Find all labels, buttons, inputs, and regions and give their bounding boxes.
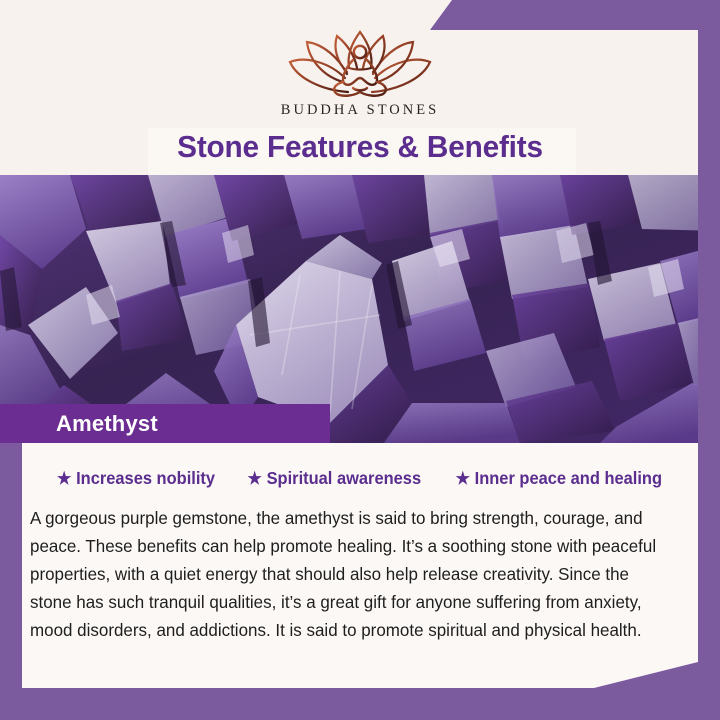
benefit-item: ★ Spiritual awareness bbox=[247, 468, 421, 489]
benefit-item: ★ Increases nobility bbox=[57, 468, 215, 489]
page-title: Stone Features & Benefits bbox=[14, 129, 705, 165]
star-icon: ★ bbox=[57, 470, 71, 487]
star-icon: ★ bbox=[247, 470, 261, 487]
brand-logo: BUDDHA STONES bbox=[0, 26, 720, 119]
star-icon: ★ bbox=[455, 470, 469, 487]
stone-name: Amethyst bbox=[56, 411, 158, 437]
benefit-label: Spiritual awareness bbox=[266, 468, 421, 489]
brand-name: BUDDHA STONES bbox=[0, 102, 720, 119]
benefit-label: Inner peace and healing bbox=[474, 468, 661, 489]
benefit-label: Increases nobility bbox=[76, 468, 215, 489]
frame-top-right-band bbox=[430, 0, 720, 30]
frame-left-band bbox=[0, 443, 22, 720]
amethyst-photo bbox=[0, 175, 720, 443]
benefit-item: ★ Inner peace and healing bbox=[455, 468, 661, 489]
stone-name-bar bbox=[0, 404, 330, 443]
poster-canvas: BUDDHA STONES Stone Features & Benefits bbox=[0, 0, 720, 720]
lotus-meditation-icon bbox=[285, 26, 435, 98]
amethyst-crystal-illustration bbox=[0, 175, 720, 443]
stone-description: A gorgeous purple gemstone, the amethyst… bbox=[30, 504, 669, 644]
frame-right-band bbox=[698, 0, 720, 720]
benefits-list: ★ Increases nobility ★ Spiritual awarene… bbox=[22, 468, 698, 489]
frame-bottom-band bbox=[0, 688, 720, 720]
